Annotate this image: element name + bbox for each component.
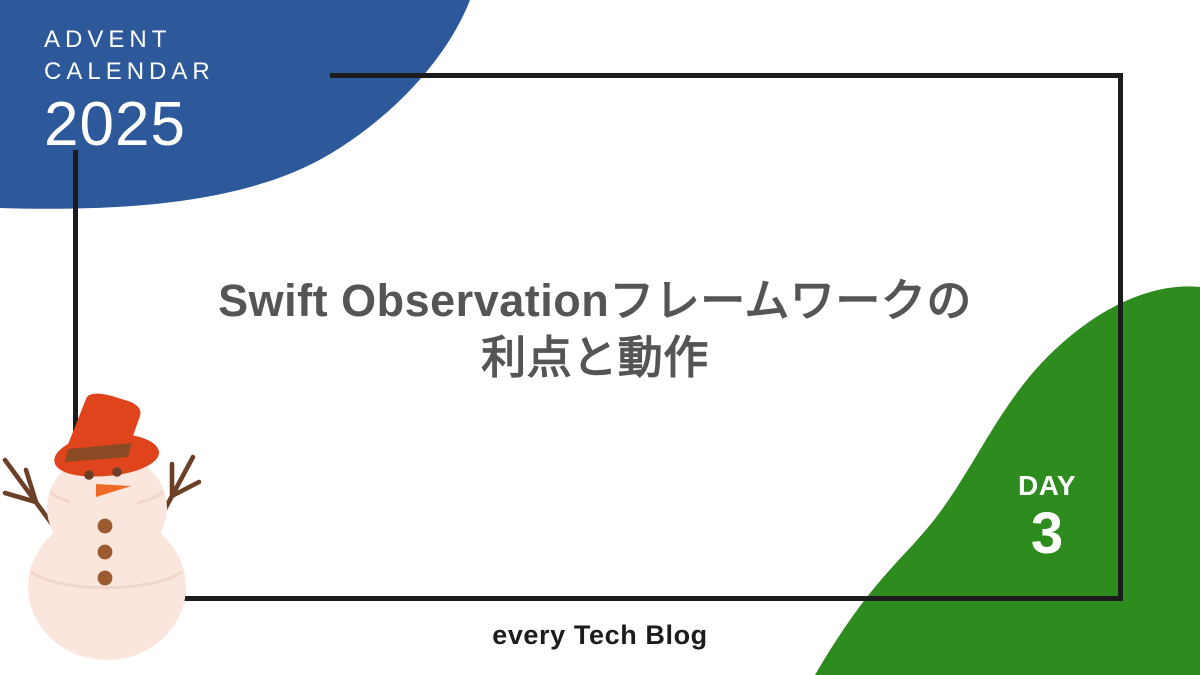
advent-calendar-slide: ADVENT CALENDAR 2025 Swift Observationフレ…	[0, 0, 1200, 675]
day-label: DAY	[986, 470, 1108, 502]
page-title: Swift Observationフレームワークの 利点と動作	[180, 272, 1010, 386]
title-line-1: Swift Observationフレームワークの	[180, 272, 1010, 329]
snowman-button	[98, 519, 113, 534]
snowman-top-hat-icon	[54, 394, 159, 477]
title-line-2: 利点と動作	[180, 329, 1010, 386]
day-number: 3	[986, 504, 1108, 564]
snowman-left-eye	[84, 470, 94, 480]
day-badge: DAY 3	[986, 470, 1108, 564]
snowman-button	[98, 571, 113, 586]
footer-brand: every Tech Blog	[0, 620, 1200, 651]
snowman-button	[98, 545, 113, 560]
snowman-right-eye	[112, 467, 122, 477]
